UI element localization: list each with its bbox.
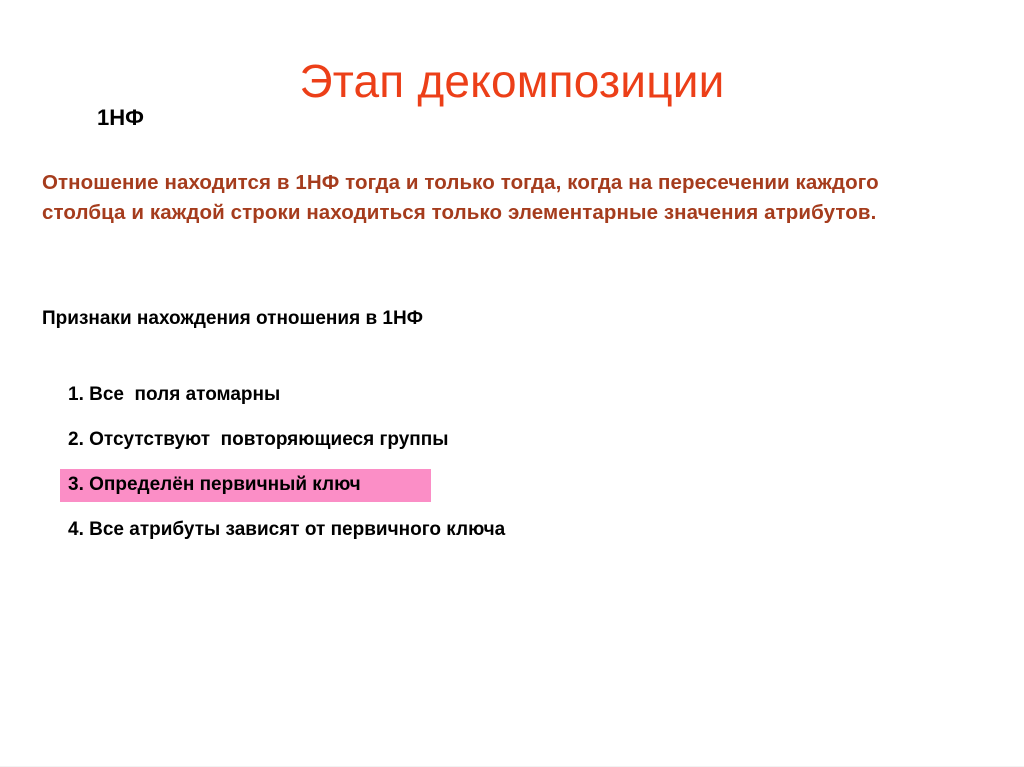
criteria-list: 1. Все поля атомарны 2. Отсутствуют повт… — [60, 373, 960, 553]
list-item-label: 4. Все атрибуты зависят от первичного кл… — [60, 514, 513, 547]
list-item-label: 1. Все поля атомарны — [60, 379, 288, 412]
list-item: 2. Отсутствуют повторяющиеся группы — [60, 418, 960, 463]
list-item: 4. Все атрибуты зависят от первичного кл… — [60, 508, 960, 553]
slide-canvas: Этап декомпозиции 1НФ Отношение находитс… — [0, 0, 1024, 767]
section-label-1nf: 1НФ — [97, 105, 144, 131]
list-item-label: 2. Отсутствуют повторяющиеся группы — [60, 424, 456, 457]
page-title: Этап декомпозиции — [0, 56, 1024, 108]
list-item-label: 3. Определён первичный ключ — [60, 469, 431, 502]
criteria-heading: Признаки нахождения отношения в 1НФ — [42, 307, 423, 332]
definition-paragraph: Отношение находится в 1НФ тогда и только… — [42, 168, 952, 228]
list-item-highlighted: 3. Определён первичный ключ — [60, 463, 960, 508]
list-item: 1. Все поля атомарны — [60, 373, 960, 418]
